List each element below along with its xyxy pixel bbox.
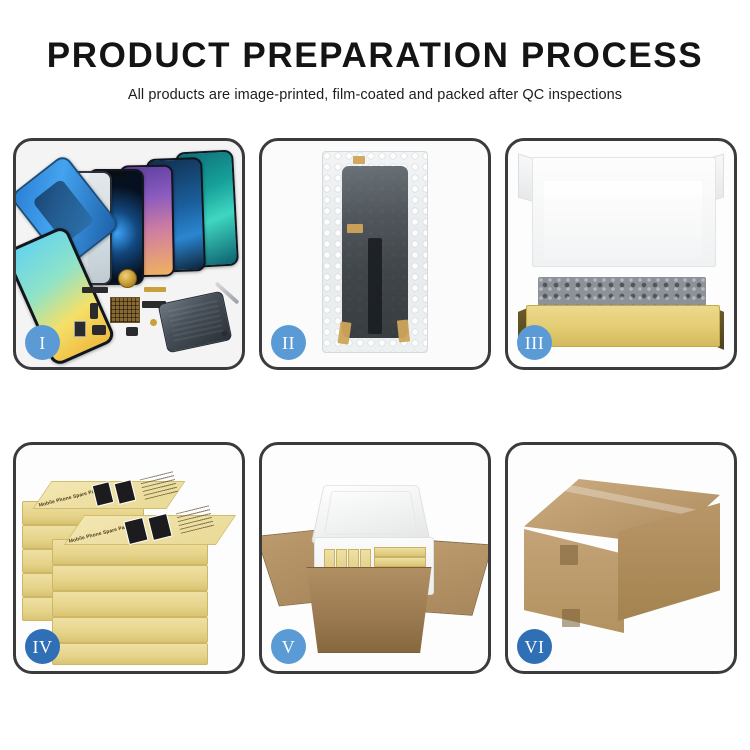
tape-mid-icon	[347, 224, 363, 233]
step-badge-6: VI	[517, 629, 552, 664]
stacked-box-r2	[52, 565, 208, 591]
tape-top-icon	[353, 156, 365, 164]
carton-body-icon	[298, 567, 440, 653]
packed-box-5	[374, 547, 426, 557]
carton-tab-upper-icon	[560, 545, 578, 565]
camera-module-icon	[90, 303, 98, 319]
battery-connector-icon	[82, 287, 108, 293]
process-step-3[interactable]: III	[505, 138, 737, 370]
small-screw-icon	[222, 331, 227, 336]
speaker-icon	[92, 325, 106, 335]
step-badge-4: IV	[25, 629, 60, 664]
step-badge-5: V	[271, 629, 306, 664]
carton-tab-lower-icon	[562, 609, 580, 627]
chip-grid-icon	[110, 297, 140, 323]
vibration-motor-icon	[118, 269, 137, 288]
sim-tray-icon	[74, 321, 86, 337]
tape-bottom-left-icon	[338, 321, 352, 344]
flex-cable-icon	[144, 287, 166, 292]
box-lid-inner-icon	[544, 181, 702, 259]
stacked-box-r3	[52, 591, 208, 617]
button-flex-icon	[126, 327, 138, 336]
stacked-box-r5	[52, 643, 208, 665]
foam-lid-icon	[311, 485, 431, 543]
process-step-2[interactable]: II	[259, 138, 491, 370]
process-step-4[interactable]: Mobile Phone Spare Parts Mobile Phone Sp…	[13, 442, 245, 674]
process-step-1[interactable]: I	[13, 138, 245, 370]
page-subtitle: All products are image-printed, film-coa…	[0, 87, 750, 103]
rear-housing-icon	[158, 291, 233, 354]
packed-box-6	[374, 557, 426, 567]
step-badge-3: III	[517, 325, 552, 360]
page-title: PRODUCT PREPARATION PROCESS	[0, 38, 750, 75]
page-header: PRODUCT PREPARATION PROCESS All products…	[0, 0, 750, 103]
bubble-bag-icon	[322, 151, 428, 353]
step-badge-2: II	[271, 325, 306, 360]
box-front-icon	[526, 305, 720, 347]
process-step-5[interactable]: V	[259, 442, 491, 674]
stacked-box-r4	[52, 617, 208, 643]
process-step-grid: I II III	[13, 138, 737, 674]
flex-tail-icon	[368, 238, 382, 334]
process-step-6[interactable]: VI	[505, 442, 737, 674]
screw-set-icon	[150, 319, 157, 326]
step-badge-1: I	[25, 325, 60, 360]
tape-bottom-right-icon	[397, 319, 410, 342]
